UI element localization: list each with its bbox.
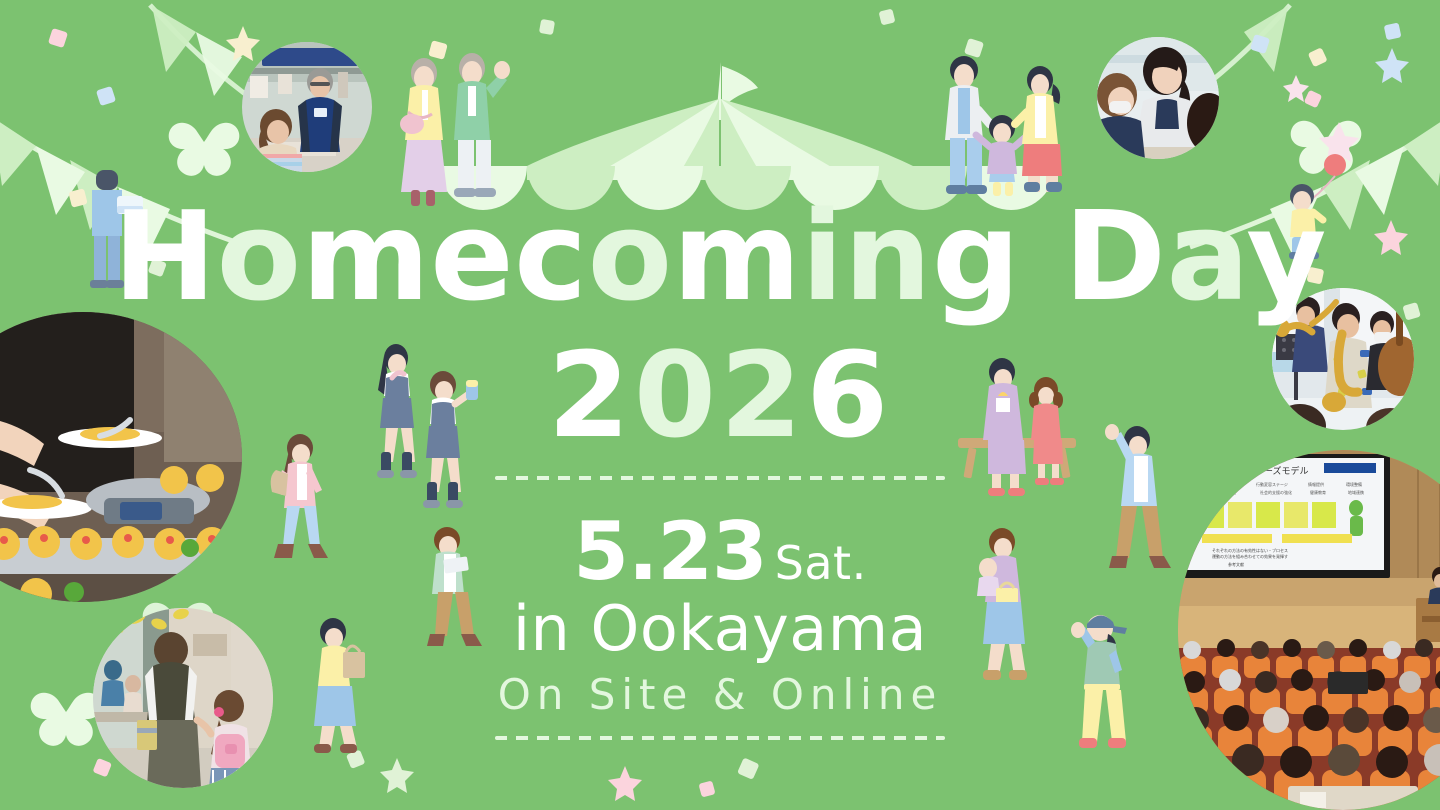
svg-text:それぞれの方法の有効性はない・ブロセス: それぞれの方法の有効性はない・ブロセス bbox=[1212, 547, 1288, 553]
person-carrying-box-icon bbox=[90, 170, 143, 288]
svg-text:地域連携: 地域連携 bbox=[1348, 489, 1364, 495]
svg-text:健康教育: 健康教育 bbox=[1310, 489, 1326, 495]
svg-text:健康づくり支援: 健康づくり支援 bbox=[1208, 489, 1236, 495]
svg-text:行動変容ステージ: 行動変容ステージ bbox=[1256, 481, 1288, 487]
family-walk-photo bbox=[93, 608, 273, 788]
child-with-balloon-icon bbox=[1289, 154, 1346, 259]
svg-text:社会的支援の強化: 社会的支援の強化 bbox=[1260, 489, 1292, 495]
svg-text:参考文献: 参考文献 bbox=[1228, 561, 1244, 567]
svg-text:ーズモデル: ーズモデル bbox=[1264, 465, 1309, 476]
workshop-photo bbox=[242, 42, 372, 172]
elderly-couple-icon bbox=[400, 53, 510, 206]
man-pointing-icon bbox=[1105, 424, 1171, 568]
mother-and-daughter-on-bench-icon bbox=[958, 358, 1076, 496]
person-with-cap-waving-icon bbox=[1071, 615, 1127, 748]
svg-text:運動の方法を組み合わせての効果を発揮す: 運動の方法を組み合わせての効果を発揮す bbox=[1212, 553, 1288, 559]
man-reading-paper-icon bbox=[427, 527, 482, 646]
mother-holding-baby-icon bbox=[977, 528, 1027, 680]
homecoming-day-banner: ーズモデル 最適な介入行動変容ステージ 情報提供環境整備 健康づくり支援社会的支… bbox=[0, 0, 1440, 810]
svg-text:情報提供: 情報提供 bbox=[1308, 481, 1324, 487]
woman-with-basket-icon bbox=[314, 618, 365, 753]
family-of-three-icon bbox=[945, 56, 1062, 196]
buffet-photo bbox=[0, 312, 242, 602]
woman-with-tote-bag-icon bbox=[271, 434, 328, 558]
students-photo bbox=[1097, 37, 1219, 159]
music-photo bbox=[1272, 288, 1414, 430]
svg-text:最適な介入: 最適な介入 bbox=[1208, 481, 1228, 487]
two-schoolgirls-icon bbox=[377, 344, 478, 508]
svg-text:環境整備: 環境整備 bbox=[1346, 481, 1362, 487]
lecture-hall-photo: ーズモデル 最適な介入行動変容ステージ 情報提供環境整備 健康づくり支援社会的支… bbox=[1178, 450, 1440, 810]
